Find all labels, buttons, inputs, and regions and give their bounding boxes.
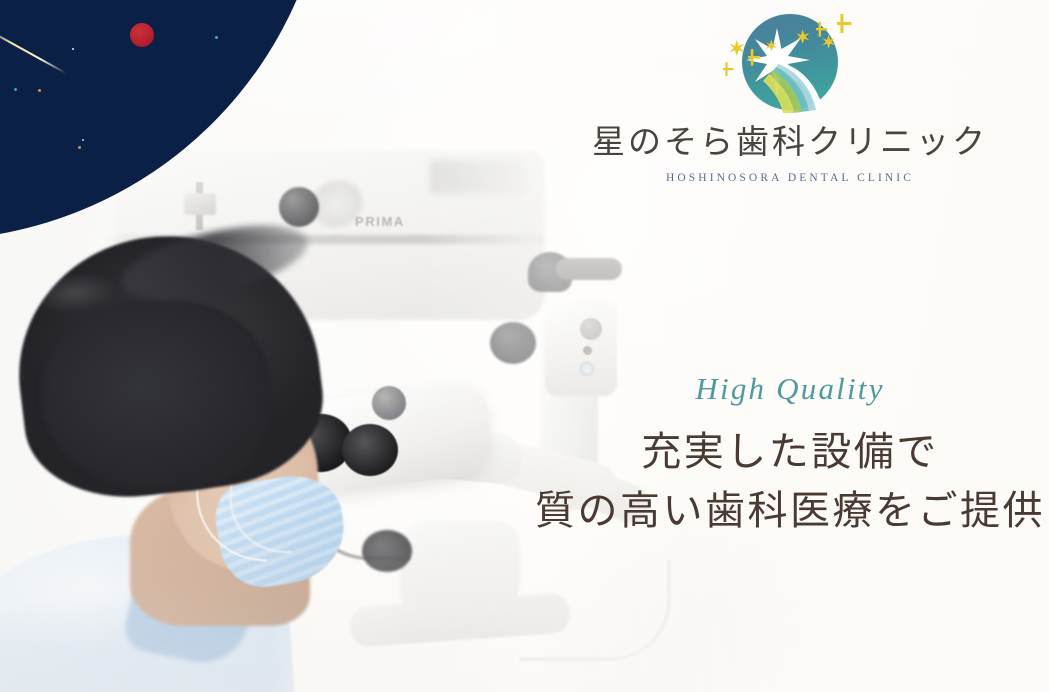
hero-section: PRIMA [0, 0, 1049, 692]
star-dot-icon [72, 48, 74, 50]
shooting-star-icon [0, 26, 66, 74]
star-dot-icon [82, 139, 84, 141]
red-planet-icon [130, 23, 154, 47]
clinic-name-ja: 星のそら歯科クリニック [592, 124, 988, 164]
night-sky-contents [0, 0, 330, 240]
star-dot-icon [215, 36, 218, 39]
hero-eyebrow: High Quality [535, 372, 1045, 406]
clinic-name-en: HOSHINOSORA DENTAL CLINIC [592, 172, 988, 184]
hero-copy: High Quality 充実した設備で 質の高い歯科医療をご提供 [535, 372, 1045, 540]
hero-headline-line-1: 充実した設備で [535, 422, 1045, 481]
hero-headline-line-2: 質の高い歯科医療をご提供 [535, 481, 1045, 540]
clinic-logo[interactable]: 星のそら歯科クリニック HOSHINOSORA DENTAL CLINIC [592, 6, 988, 184]
star-dot-icon [14, 88, 17, 91]
hero-headline: 充実した設備で 質の高い歯科医療をご提供 [535, 422, 1045, 540]
night-sky-corner [0, 0, 330, 240]
star-dot-icon [38, 89, 41, 92]
hoshinosora-star-logo-icon [715, 6, 865, 120]
star-dot-icon [78, 146, 81, 149]
